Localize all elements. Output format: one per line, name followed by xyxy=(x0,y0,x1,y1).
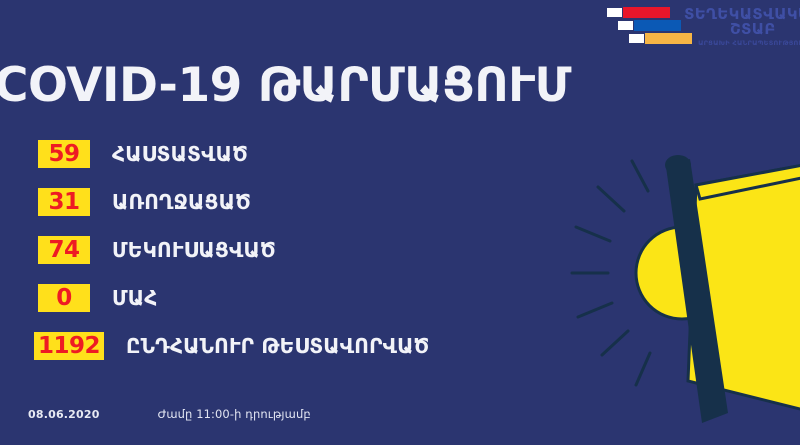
blue-bar-icon xyxy=(617,20,681,31)
covid-update-poster: ՏԵՂԵԿԱՏՎԱԿԱՆ ՇՏԱԲ ԱՐՑԱԽԻ ՀԱՆՐԱՊԵՏՈՒԹՅՈՒՆ… xyxy=(0,0,800,445)
footer: 08.06.2020 Ժամը 11:00-ի դրությամբ xyxy=(0,407,420,421)
megaphone-illustration xyxy=(570,145,800,445)
orange-bar-square xyxy=(628,33,645,44)
footer-time-note: Ժամը 11:00-ի դրությամբ xyxy=(158,407,311,421)
orange-bar-fill xyxy=(645,33,692,44)
stat-label-isolated: ՄԵԿՈՒՍԱՑՎԱԾ xyxy=(112,238,276,262)
stat-row-confirmed: 59 ՀԱՍՏԱՏՎԱԾ xyxy=(0,130,560,178)
megaphone-glow-circle xyxy=(636,227,728,319)
stat-label-confirmed: ՀԱՍՏԱՏՎԱԾ xyxy=(112,142,248,166)
stat-label-recovered: ԱՌՈՂՋԱՑԱԾ xyxy=(112,190,251,214)
stat-value-confirmed: 59 xyxy=(38,140,90,168)
organization-logo: ՏԵՂԵԿԱՏՎԱԿԱՆ ՇՏԱԲ ԱՐՑԱԽԻ ՀԱՆՐԱՊԵՏՈՒԹՅՈՒՆ xyxy=(604,6,794,50)
megaphone-handle-cap xyxy=(665,155,691,175)
logo-subtitle: ԱՐՑԱԽԻ ՀԱՆՐԱՊԵՏՈՒԹՅՈՒՆ xyxy=(684,40,800,47)
megaphone-cone xyxy=(688,163,800,417)
red-bar-icon xyxy=(606,7,670,18)
blue-bar-square xyxy=(617,20,634,31)
stat-row-recovered: 31 ԱՌՈՂՋԱՑԱԾ xyxy=(0,178,560,226)
blue-bar-fill xyxy=(634,20,681,31)
megaphone-icon xyxy=(570,145,800,445)
stat-label-deaths: ՄԱՀ xyxy=(112,286,157,310)
stat-row-isolated: 74 ՄԵԿՈՒՍԱՑՎԱԾ xyxy=(0,226,560,274)
stat-value-tested: 1192 xyxy=(34,332,104,360)
stat-row-deaths: 0 ՄԱՀ xyxy=(0,274,560,322)
footer-date: 08.06.2020 xyxy=(28,408,100,421)
page-title: COVID-19 ԹԱՐՄԱՑՈՒՄ xyxy=(0,58,571,113)
stat-label-tested: ԸՆԴՀԱՆՈՒՐ ԹԵՍՏԱՎՈՐՎԱԾ xyxy=(126,334,429,358)
stat-row-tested: 1192 ԸՆԴՀԱՆՈՒՐ ԹԵՍՏԱՎՈՐՎԱԾ xyxy=(0,322,560,370)
logo-title-line2: ՇՏԱԲ xyxy=(684,22,800,37)
red-bar-fill xyxy=(623,7,670,18)
red-bar-square xyxy=(606,7,623,18)
orange-bar-icon xyxy=(628,33,692,44)
megaphone-rim xyxy=(696,163,800,199)
sound-wave-lines xyxy=(572,161,650,385)
megaphone-handle xyxy=(666,159,728,423)
stat-value-recovered: 31 xyxy=(38,188,90,216)
statistics-list: 59 ՀԱՍՏԱՏՎԱԾ 31 ԱՌՈՂՋԱՑԱԾ 74 ՄԵԿՈՒՍԱՑՎԱԾ… xyxy=(0,130,560,370)
logo-flag-bars xyxy=(604,6,684,48)
logo-text-block: ՏԵՂԵԿԱՏՎԱԿԱՆ ՇՏԱԲ ԱՐՑԱԽԻ ՀԱՆՐԱՊԵՏՈՒԹՅՈՒՆ xyxy=(684,6,800,46)
stat-value-isolated: 74 xyxy=(38,236,90,264)
stat-value-deaths: 0 xyxy=(38,284,90,312)
